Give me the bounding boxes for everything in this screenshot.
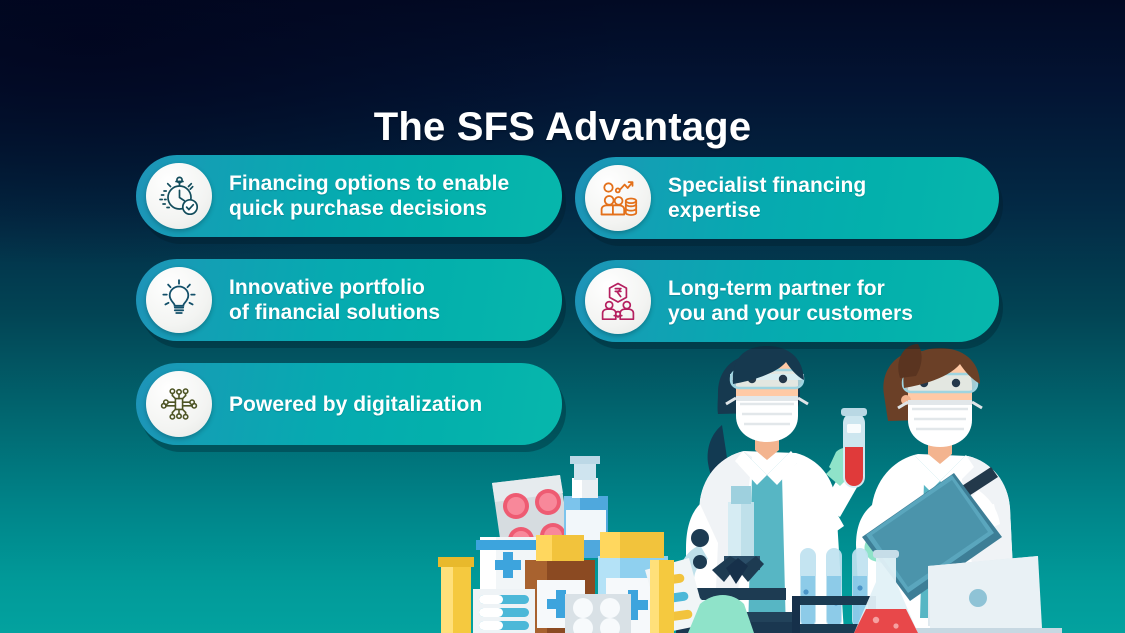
clipboard-tablet: [862, 473, 1002, 601]
benefit-line-2: quick purchase decisions: [229, 196, 509, 221]
laptop: [908, 556, 1062, 633]
lightbulb-icon: [146, 267, 212, 333]
female-scientist: [686, 346, 864, 633]
benefit-line-2: you and your customers: [668, 301, 913, 326]
test-tube-red: [841, 408, 867, 488]
benefit-text: Specialist financing expertise: [668, 173, 866, 223]
slide-root: The SFS Advantage Financing options to e…: [0, 0, 1125, 633]
benefit-pill-financing-options[interactable]: Financing options to enable quick purcha…: [136, 155, 562, 237]
blister-pack-capsules: [473, 589, 535, 633]
stopwatch-check-icon: [146, 163, 212, 229]
erlenmeyer-flask: [854, 550, 918, 633]
blister-pack-white-tablets: [565, 594, 631, 633]
person-growth-chart-coins-icon: [585, 165, 651, 231]
pharmaceutical-products: [438, 456, 754, 633]
benefit-pill-specialist-expertise[interactable]: Specialist financing expertise: [575, 157, 999, 239]
handshake-rupee-icon: [585, 268, 651, 334]
microscope: [676, 486, 800, 633]
benefit-text: Financing options to enable quick purcha…: [229, 171, 509, 221]
benefit-text: Innovative portfolio of financial soluti…: [229, 275, 440, 325]
benefit-pill-long-term-partner[interactable]: Long-term partner for you and your custo…: [575, 260, 999, 342]
medicine-box-left: [476, 537, 544, 633]
benefit-text: Long-term partner for you and your custo…: [668, 276, 913, 326]
page-title: The SFS Advantage: [0, 105, 1125, 150]
male-scientist: [856, 344, 1016, 633]
benefit-line-1: Financing options to enable: [229, 171, 509, 196]
benefit-text: Powered by digitalization: [229, 392, 482, 417]
blister-pack-pink: [492, 475, 570, 553]
benefit-line-1: Innovative portfolio: [229, 275, 440, 300]
benefit-pill-powered-by-digitalization[interactable]: Powered by digitalization: [136, 363, 562, 445]
brown-medicine-bottle: [525, 535, 595, 633]
test-tube-rack: [792, 548, 876, 633]
circuit-chip-icon: [146, 371, 212, 437]
benefit-line-2: of financial solutions: [229, 300, 440, 325]
benefit-line-1: Long-term partner for: [668, 276, 913, 301]
benefit-pill-innovative-portfolio[interactable]: Innovative portfolio of financial soluti…: [136, 259, 562, 341]
benefit-line-2: expertise: [668, 198, 866, 223]
pen: [939, 467, 998, 509]
yellow-cap-bottle: [598, 532, 668, 633]
benefit-line-1: Powered by digitalization: [229, 392, 482, 417]
benefit-line-1: Specialist financing: [668, 173, 866, 198]
spray-bottle: [564, 456, 608, 558]
capsule-strip-right: [645, 558, 707, 633]
